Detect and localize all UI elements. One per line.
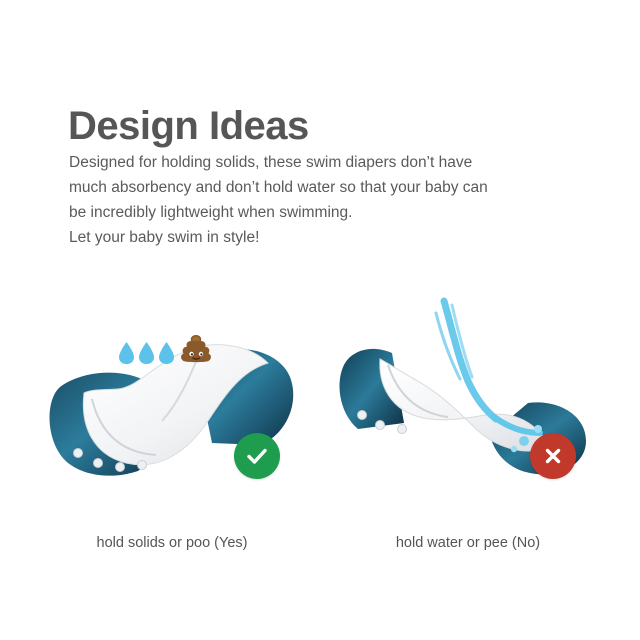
- cross-badge: [530, 433, 576, 479]
- caption-hold-water: hold water or pee (No): [318, 535, 618, 551]
- cross-icon: [540, 443, 566, 469]
- description-line-1: Designed for holding solids, these swim …: [69, 150, 589, 175]
- description-line-2: much absorbency and don’t hold water so …: [69, 175, 589, 200]
- poo-icon: [178, 333, 214, 365]
- panel-hold-water: hold water or pee (No): [318, 275, 618, 575]
- page-title: Design Ideas: [68, 105, 309, 147]
- solids-icon-group: [118, 333, 214, 365]
- water-droplet-icon: [158, 341, 175, 365]
- description-text: Designed for holding solids, these swim …: [69, 150, 589, 250]
- description-line-4: Let your baby swim in style!: [69, 225, 589, 250]
- check-icon: [244, 443, 270, 469]
- panel-hold-solids: hold solids or poo (Yes): [22, 275, 322, 575]
- check-badge: [234, 433, 280, 479]
- caption-hold-solids: hold solids or poo (Yes): [22, 535, 322, 551]
- description-line-3: be incredibly lightweight when swimming.: [69, 200, 589, 225]
- water-droplet-icon: [118, 341, 135, 365]
- water-droplet-icon: [138, 341, 155, 365]
- design-ideas-page: Design Ideas Designed for holding solids…: [0, 0, 640, 640]
- comparison-panels: hold solids or poo (Yes): [0, 275, 640, 575]
